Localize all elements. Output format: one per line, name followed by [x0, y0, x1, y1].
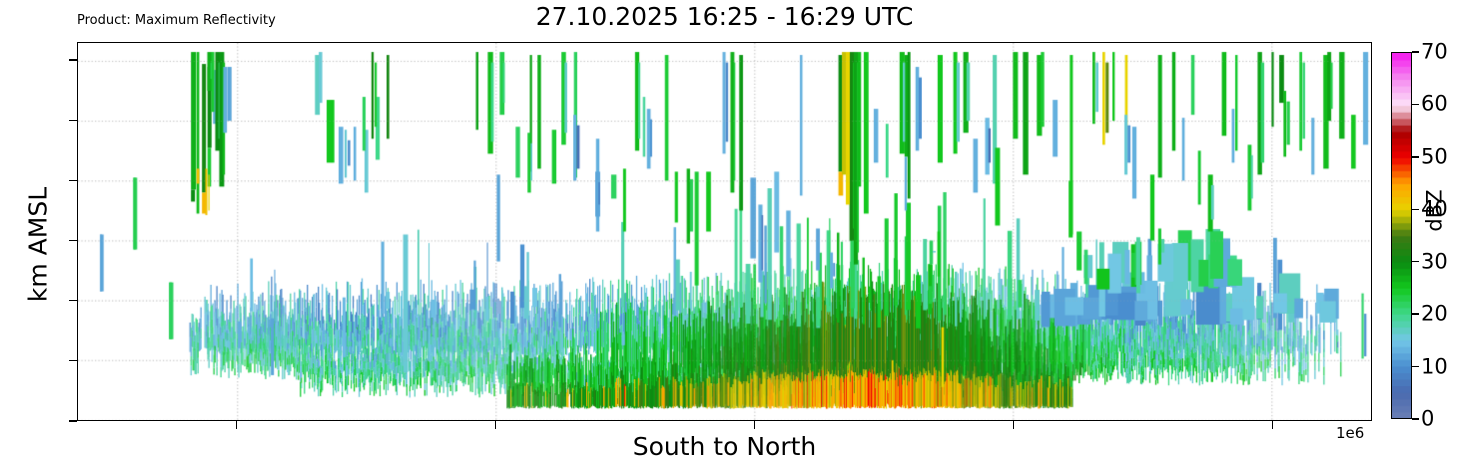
x-axis-tick-mark	[754, 421, 755, 429]
y-axis-tick-mark	[69, 240, 77, 241]
colorbar-tick-mark	[1412, 104, 1419, 105]
x-axis-label: South to North	[77, 432, 1372, 462]
colorbar-tick-mark	[1412, 366, 1419, 367]
y-axis-tick-mark	[69, 420, 77, 421]
reflectivity-heatmap	[78, 43, 1371, 420]
y-axis-tick-mark	[69, 360, 77, 361]
colorbar	[1391, 52, 1412, 419]
colorbar-tick-mark	[1412, 313, 1419, 314]
colorbar-tick-mark	[1412, 418, 1419, 419]
colorbar-tick-mark	[1412, 209, 1419, 210]
product-label: Product: Maximum Reflectivity	[77, 13, 276, 29]
colorbar-tick-mark	[1412, 51, 1419, 52]
plot-area	[77, 42, 1372, 421]
colorbar-gradient	[1392, 53, 1411, 418]
colorbar-tick-label: 30	[1421, 251, 1448, 272]
colorbar-tick-label: 60	[1421, 94, 1448, 115]
colorbar-tick-label: 70	[1421, 42, 1448, 63]
colorbar-tick-mark	[1412, 156, 1419, 157]
y-axis-tick-mark	[69, 300, 77, 301]
y-axis-tick-mark	[69, 180, 77, 181]
x-axis-tick-mark	[236, 421, 237, 429]
x-axis-tick-mark	[1013, 421, 1014, 429]
colorbar-tick-label: 0	[1421, 409, 1434, 430]
colorbar-tick-label: 20	[1421, 304, 1448, 325]
colorbar-tick-label: 40	[1421, 199, 1448, 220]
y-axis-tick-mark	[69, 59, 77, 60]
y-axis-label: km AMSL	[26, 115, 51, 375]
radar-cross-section-figure: 27.10.2025 16:25 - 16:29 UTC Product: Ma…	[0, 0, 1482, 470]
x-axis-tick-mark	[1272, 421, 1273, 429]
colorbar-tick-label: 10	[1421, 356, 1448, 377]
x-axis-offset-label: 1e6	[1336, 424, 1364, 442]
y-axis-tick-mark	[69, 120, 77, 121]
colorbar-tick-label: 50	[1421, 146, 1448, 167]
colorbar-tick-mark	[1412, 261, 1419, 262]
x-axis-tick-mark	[495, 421, 496, 429]
